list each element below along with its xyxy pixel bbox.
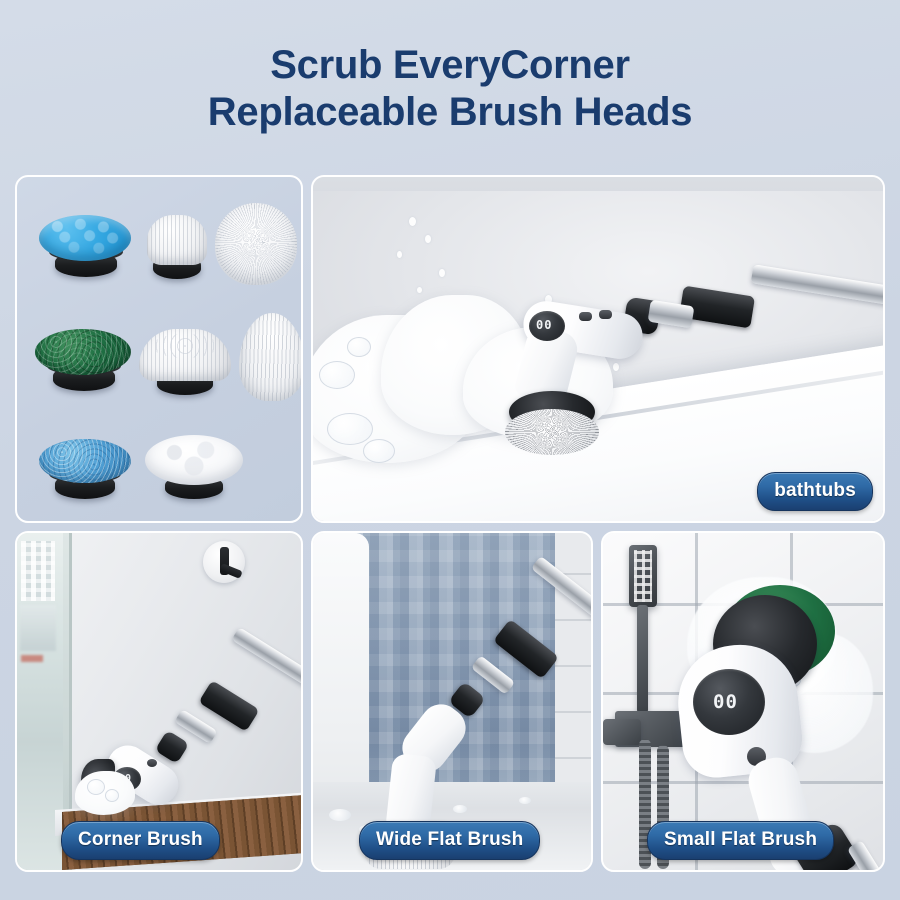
panel-corner-brush[interactable]: 00 Corner Brush: [15, 531, 303, 872]
bathtub-scene: 00 bathtubs: [313, 177, 883, 521]
brush-head-small-white-bristle-brush[interactable]: [147, 215, 207, 283]
shower-head: [629, 545, 657, 607]
badge-bathtubs: bathtubs: [757, 472, 873, 511]
badge-wide-flat-brush: Wide Flat Brush: [359, 821, 540, 860]
badge-small-flat-brush: Small Flat Brush: [647, 821, 834, 860]
brush-head-white-wool-polishing-pad[interactable]: [145, 435, 243, 503]
device-display: 00: [536, 318, 552, 332]
corner-brush-scene: 00 Corner Brush: [17, 533, 301, 870]
brush-head-wide-flat-bristle-brush[interactable]: [139, 329, 231, 397]
poster-root: Scrub EveryCorner Replaceable Brush Head…: [0, 0, 900, 900]
brush-head-blue-scouring-pad[interactable]: [39, 439, 131, 503]
brush-head-white-dome-bristle-brush[interactable]: [215, 203, 297, 285]
brush-head-green-scouring-pad[interactable]: [35, 329, 131, 395]
small-flat-brush-scene: 00 Small Flat Brush: [603, 533, 883, 870]
panel-bathtubs[interactable]: 00 bathtubs: [311, 175, 885, 523]
headline-line-2: Replaceable Brush Heads: [0, 89, 900, 136]
panel-wide-flat-brush[interactable]: Wide Flat Brush: [311, 531, 593, 872]
spin-scrubber-device[interactable]: 00: [503, 285, 883, 465]
brush-head-white-cone-bristle-brush[interactable]: [239, 313, 301, 401]
headline-line-1: Scrub EveryCorner: [270, 43, 630, 87]
brush-head-blue-foam-polishing-pad[interactable]: [39, 215, 131, 281]
badge-corner-brush: Corner Brush: [61, 821, 220, 860]
wide-flat-brush-scene: Wide Flat Brush: [313, 533, 591, 870]
page-title: Scrub EveryCorner Replaceable Brush Head…: [0, 42, 900, 136]
small-device-display: 00: [713, 691, 738, 713]
panel-small-flat-brush[interactable]: 00 Small Flat Brush: [601, 531, 885, 872]
panel-brush-heads[interactable]: [15, 175, 303, 523]
brush-head-grid: [17, 177, 301, 521]
